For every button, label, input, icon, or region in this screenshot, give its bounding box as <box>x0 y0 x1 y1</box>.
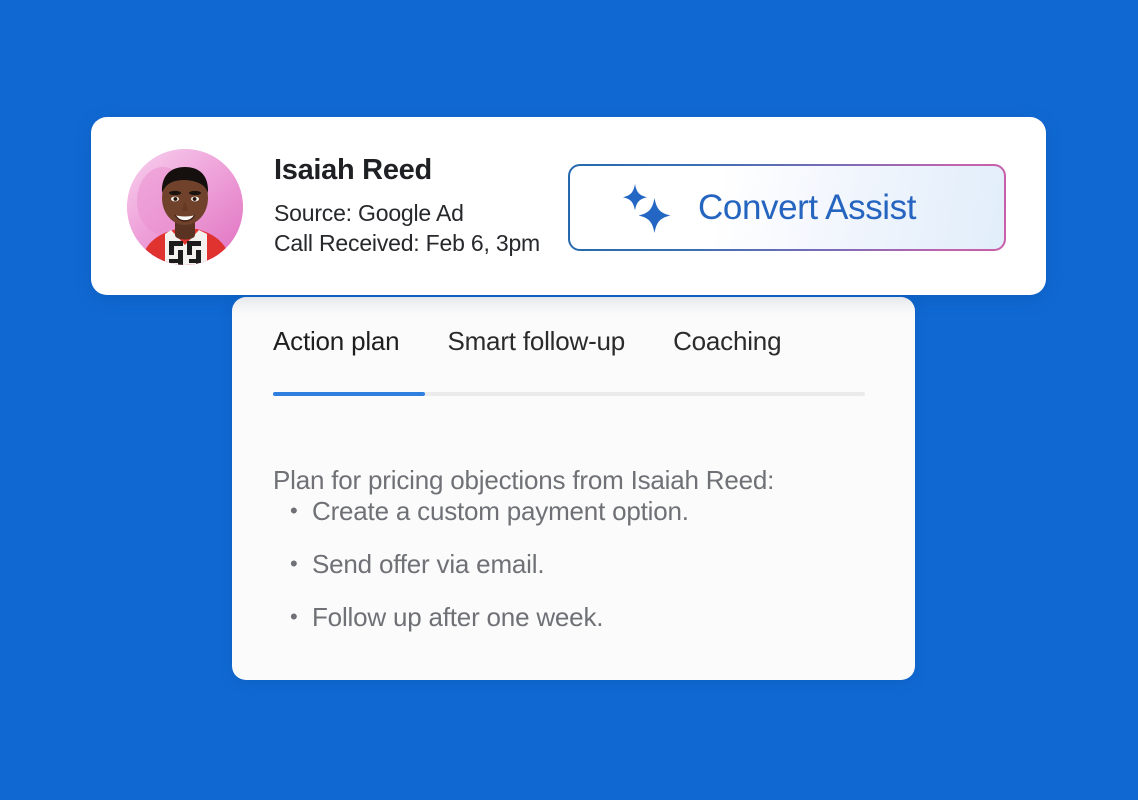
tab-underline-rail <box>273 392 865 396</box>
profile-call-received: Call Received: Feb 6, 3pm <box>274 228 540 259</box>
sparkle-icon <box>616 181 676 233</box>
avatar <box>127 149 243 265</box>
page-title: Isaiah Reed <box>274 155 540 187</box>
list-item: • Send offer via email. <box>290 549 689 580</box>
assist-button-wrap: Convert Assist <box>568 164 1006 251</box>
identity-block: Isaiah Reed Source: Google Ad Call Recei… <box>274 155 540 259</box>
panel-tabs: Action plan Smart follow-up Coaching <box>273 328 781 356</box>
tab-coaching[interactable]: Coaching <box>673 328 781 356</box>
profile-source: Source: Google Ad <box>274 198 540 229</box>
profile-card: Isaiah Reed Source: Google Ad Call Recei… <box>91 117 1046 295</box>
bullet-icon: • <box>290 549 312 579</box>
list-item-label: Create a custom payment option. <box>312 496 689 527</box>
bullet-icon: • <box>290 496 312 526</box>
plan-list: • Create a custom payment option. • Send… <box>290 496 689 634</box>
plan-intro-text: Plan for pricing objections from Isaiah … <box>273 465 774 496</box>
tab-smart-follow-up[interactable]: Smart follow-up <box>447 328 625 356</box>
list-item: • Follow up after one week. <box>290 602 689 633</box>
convert-assist-button[interactable]: Convert Assist <box>568 164 1006 251</box>
list-item-label: Send offer via email. <box>312 549 544 580</box>
convert-assist-button-face: Convert Assist <box>570 166 1004 249</box>
list-item: • Create a custom payment option. <box>290 496 689 527</box>
tab-action-plan[interactable]: Action plan <box>273 328 399 356</box>
list-item-label: Follow up after one week. <box>312 602 603 633</box>
tab-active-indicator <box>273 392 425 396</box>
bullet-icon: • <box>290 602 312 632</box>
action-plan-panel: Action plan Smart follow-up Coaching Pla… <box>232 297 915 680</box>
page-background: Action plan Smart follow-up Coaching Pla… <box>0 0 1138 800</box>
profile-card-content: Isaiah Reed Source: Google Ad Call Recei… <box>127 145 1012 269</box>
convert-assist-label: Convert Assist <box>698 190 916 225</box>
